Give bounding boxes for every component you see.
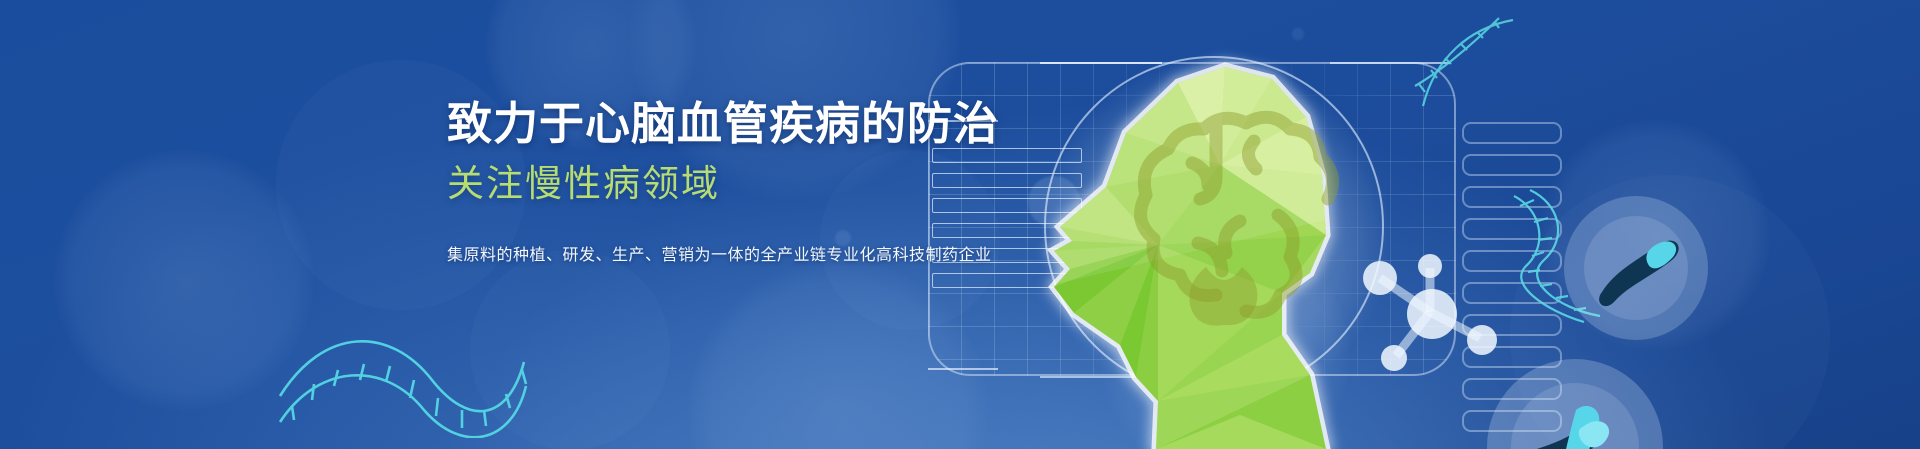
chromosome-cell-icon (1480, 352, 1670, 449)
page-subtitle: 关注慢性病领域 (447, 156, 999, 212)
hero-banner: 致力于心脑血管疾病的防治 关注慢性病领域 集原料的种植、研发、生产、营销为一体的… (0, 0, 1920, 449)
banner-copy: 致力于心脑血管疾病的防治 关注慢性病领域 集原料的种植、研发、生产、营销为一体的… (447, 100, 999, 265)
low-poly-head-icon (1010, 45, 1430, 449)
dna-helix-icon (272, 318, 532, 438)
molecule-node (1363, 254, 1497, 371)
page-tagline: 集原料的种植、研发、生产、营销为一体的全产业链专业化高科技制药企业 (447, 241, 999, 265)
bokeh-dot (1292, 28, 1304, 40)
dna-helix-icon (1413, 14, 1523, 114)
hud-pill (1462, 154, 1562, 176)
hud-tick (928, 368, 998, 370)
page-title: 致力于心脑血管疾病的防治 (447, 100, 999, 148)
hud-pill (1462, 122, 1562, 144)
bacteria-cell-icon (1556, 188, 1716, 348)
